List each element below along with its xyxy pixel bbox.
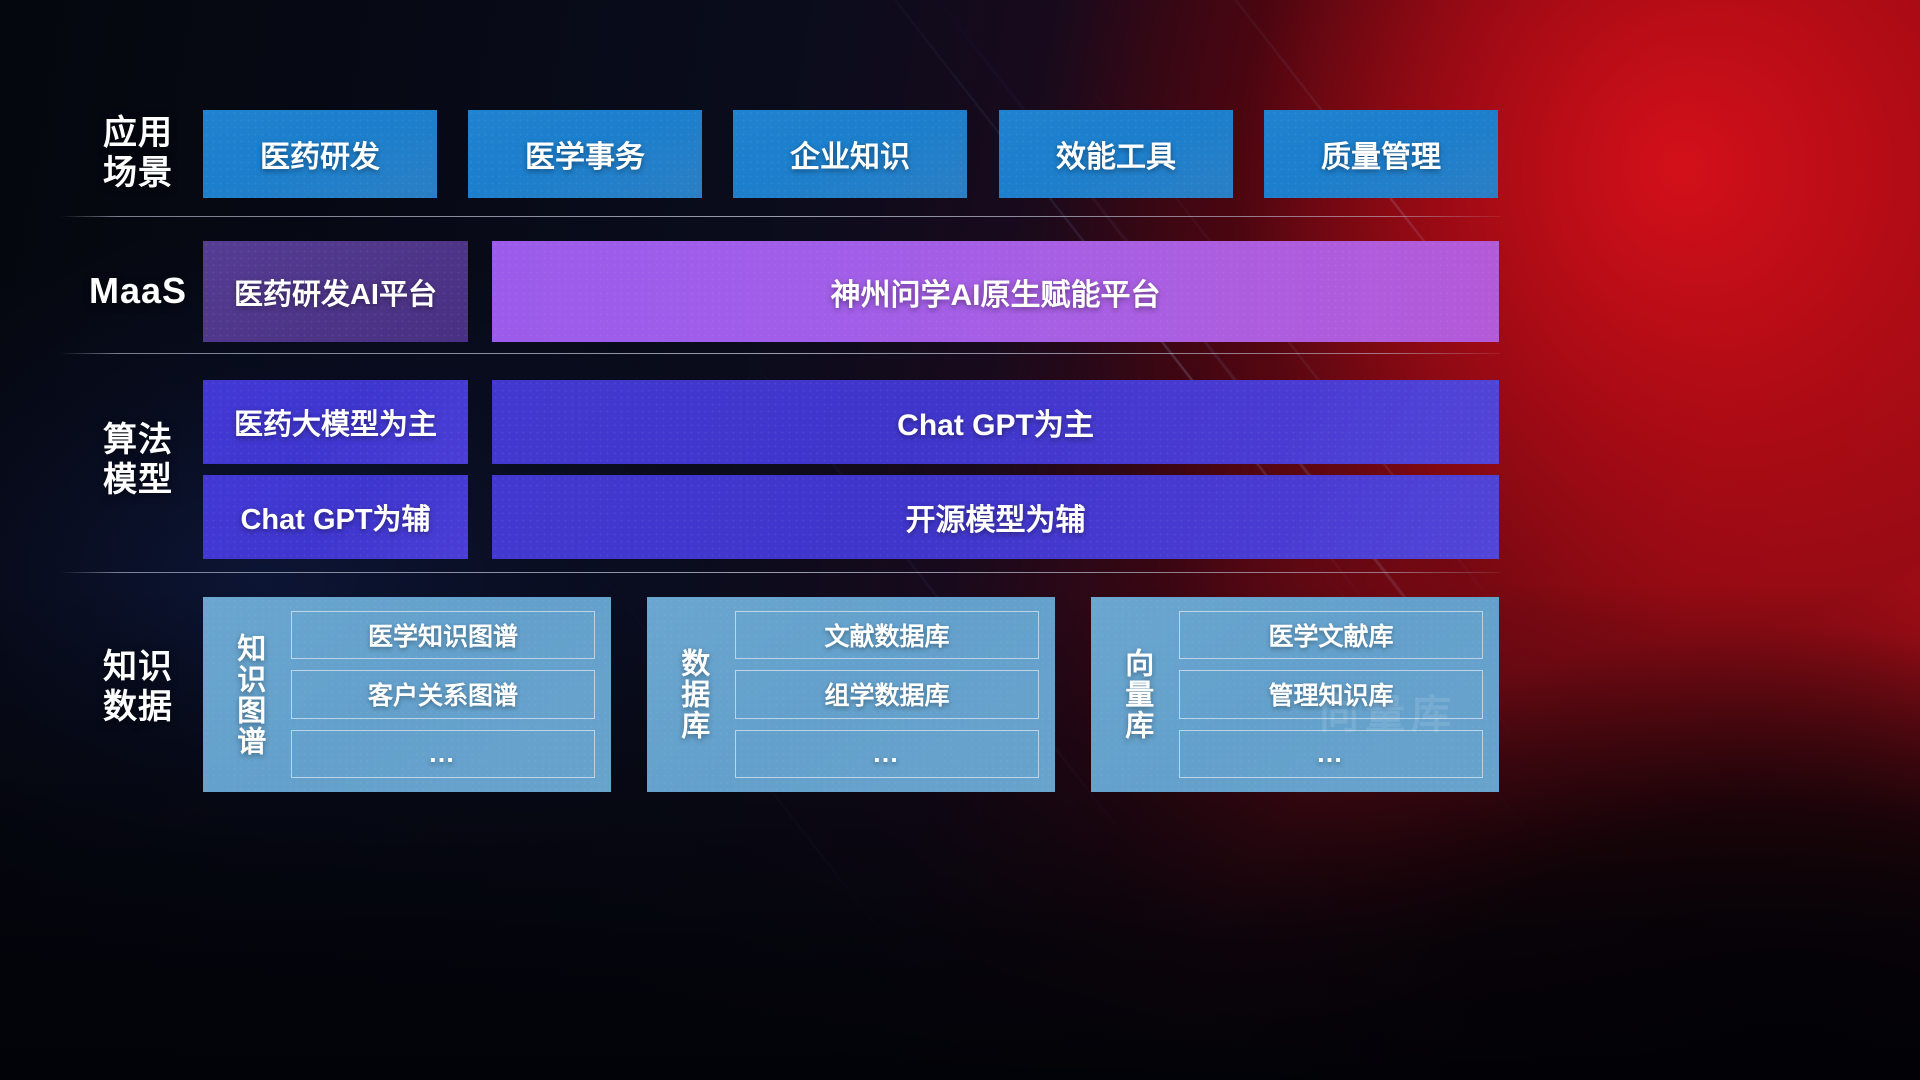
row-label-line: 算法 [78, 420, 198, 460]
algo-box-chatgpt-secondary[interactable]: Chat GPT为辅 [203, 475, 468, 559]
knowledge-group-items: 医学文献库 管理知识库 … [1167, 611, 1483, 778]
knowledge-item[interactable]: 文献数据库 [735, 611, 1039, 659]
knowledge-item-more[interactable]: … [735, 730, 1039, 778]
row-label-algorithm: 算法 模型 [78, 420, 198, 500]
knowledge-group-database[interactable]: 数据库 文献数据库 组学数据库 … [647, 597, 1055, 792]
maas-box-label: 医药研发AI平台 [234, 271, 437, 313]
app-box-label: 质量管理 [1321, 132, 1441, 176]
knowledge-group-items: 文献数据库 组学数据库 … [723, 611, 1039, 778]
divider-algorithm-knowledge [60, 572, 1500, 573]
maas-box-pharma-ai-platform[interactable]: 医药研发AI平台 [203, 241, 468, 342]
algo-box-opensource-secondary[interactable]: 开源模型为辅 [492, 475, 1499, 559]
app-box-efficiency-tools[interactable]: 效能工具 [999, 110, 1233, 198]
app-box-enterprise-knowledge[interactable]: 企业知识 [733, 110, 967, 198]
row-label-knowledge: 知识 数据 [78, 647, 198, 727]
divider-application-maas [60, 216, 1500, 217]
knowledge-item[interactable]: 管理知识库 [1179, 670, 1483, 718]
algo-box-label: 开源模型为辅 [906, 495, 1086, 539]
app-box-pharma-rd[interactable]: 医药研发 [203, 110, 437, 198]
row-label-line: 应用 [78, 113, 198, 153]
algo-box-label: Chat GPT为辅 [240, 496, 430, 538]
app-box-medical-affairs[interactable]: 医学事务 [468, 110, 702, 198]
knowledge-item[interactable]: 医学文献库 [1179, 611, 1483, 659]
divider-maas-algorithm [60, 353, 1500, 354]
maas-box-label: 神州问学AI原生赋能平台 [831, 270, 1161, 314]
app-box-label: 企业知识 [790, 132, 910, 176]
app-box-quality-management[interactable]: 质量管理 [1264, 110, 1498, 198]
app-box-label: 效能工具 [1056, 132, 1176, 176]
row-label-line: 数据 [78, 687, 198, 727]
knowledge-group-vector-store[interactable]: 向量库 向量库 医学文献库 管理知识库 … [1091, 597, 1499, 792]
row-label-line: 模型 [78, 460, 198, 500]
algo-box-pharma-llm-primary[interactable]: 医药大模型为主 [203, 380, 468, 464]
algo-box-label: Chat GPT为主 [897, 400, 1094, 444]
knowledge-item-more[interactable]: … [1179, 730, 1483, 778]
maas-box-shenzhou-wenxue-platform[interactable]: 神州问学AI原生赋能平台 [492, 241, 1499, 342]
algo-box-label: 医药大模型为主 [234, 401, 437, 443]
knowledge-group-graph[interactable]: 知识图谱 医学知识图谱 客户关系图谱 … [203, 597, 611, 792]
row-label-application: 应用 场景 [78, 113, 198, 193]
row-label-maas: MaaS [70, 270, 206, 312]
algo-box-chatgpt-primary[interactable]: Chat GPT为主 [492, 380, 1499, 464]
row-label-line: 场景 [78, 153, 198, 193]
row-label-line: MaaS [70, 270, 206, 312]
knowledge-item[interactable]: 组学数据库 [735, 670, 1039, 718]
knowledge-item[interactable]: 客户关系图谱 [291, 670, 595, 718]
knowledge-group-title: 数据库 [661, 611, 723, 778]
architecture-diagram: 应用 场景 医药研发 医学事务 企业知识 效能工具 质量管理 MaaS 医药研发… [0, 0, 1920, 1080]
app-box-label: 医学事务 [525, 132, 645, 176]
row-label-line: 知识 [78, 647, 198, 687]
knowledge-group-items: 医学知识图谱 客户关系图谱 … [279, 611, 595, 778]
knowledge-group-title: 向量库 [1105, 611, 1167, 778]
knowledge-item[interactable]: 医学知识图谱 [291, 611, 595, 659]
knowledge-item-more[interactable]: … [291, 730, 595, 778]
knowledge-group-title: 知识图谱 [217, 611, 279, 778]
app-box-label: 医药研发 [260, 132, 380, 176]
